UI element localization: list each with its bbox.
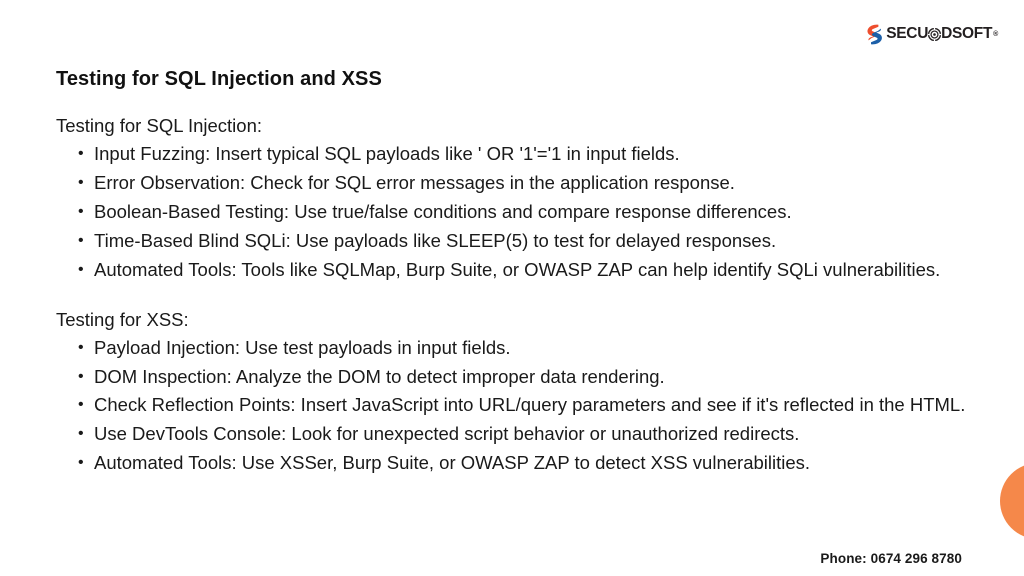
list-item: Check Reflection Points: Insert JavaScri…	[94, 391, 966, 420]
list-item: Input Fuzzing: Insert typical SQL payloa…	[94, 140, 966, 169]
list-item: Automated Tools: Use XSSer, Burp Suite, …	[94, 449, 966, 478]
list-item: Payload Injection: Use test payloads in …	[94, 334, 966, 363]
slide-body: Testing for SQL Injection: Input Fuzzing…	[56, 111, 966, 478]
bullet-list-xss: Payload Injection: Use test payloads in …	[56, 334, 966, 478]
section-heading-xss: Testing for XSS:	[56, 305, 966, 334]
brand-wordmark: SECU DSOFT ®	[886, 26, 998, 42]
wordmark-part-1: SECU	[886, 26, 928, 42]
footer-phone: Phone: 0674 296 8780	[820, 551, 962, 566]
registered-trademark-icon: ®	[993, 31, 998, 38]
page-title: Testing for SQL Injection and XSS	[56, 68, 382, 91]
list-item: DOM Inspection: Analyze the DOM to detec…	[94, 363, 966, 392]
list-item: Use DevTools Console: Look for unexpecte…	[94, 420, 966, 449]
list-item: Automated Tools: Tools like SQLMap, Burp…	[94, 256, 966, 285]
list-item: Error Observation: Check for SQL error m…	[94, 169, 966, 198]
section-divider-space	[56, 285, 966, 305]
bullet-list-sql: Input Fuzzing: Insert typical SQL payloa…	[56, 140, 966, 284]
list-item: Boolean-Based Testing: Use true/false co…	[94, 198, 966, 227]
list-item: Time-Based Blind SQLi: Use payloads like…	[94, 227, 966, 256]
secuodsoft-mark-icon	[866, 24, 883, 45]
section-heading-sql: Testing for SQL Injection:	[56, 111, 966, 140]
wordmark-part-2: DSOFT	[941, 26, 992, 42]
brand-logo: SECU DSOFT ®	[866, 22, 998, 46]
radar-target-icon	[928, 26, 941, 42]
accent-circle-decoration	[1000, 463, 1024, 539]
slide-canvas: SECU DSOFT ® Testing for SQL Injection a…	[0, 0, 1024, 576]
